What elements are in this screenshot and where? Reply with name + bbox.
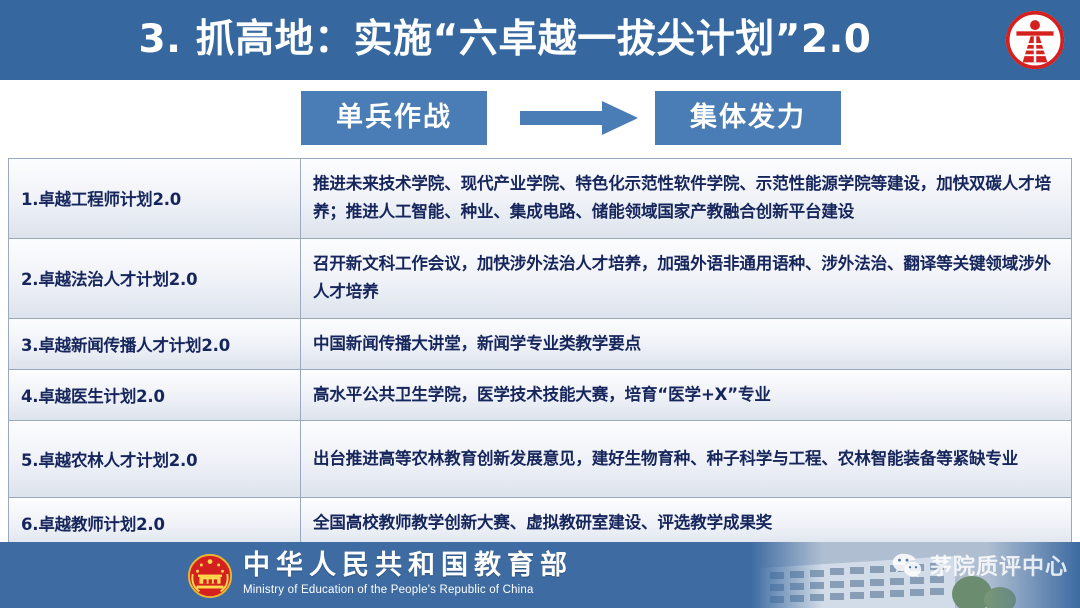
right-arrow-icon (520, 99, 640, 137)
ministry-name-cn: 中华人民共和国教育部 (243, 550, 573, 582)
flow-diagram: 单兵作战 集体发力 (0, 91, 1080, 147)
slide-footer: 中华人民共和国教育部 Ministry of Education of the … (0, 542, 1080, 608)
slide-canvas: 3. 抓高地：实施“六卓越一拔尖计划”2.0 单兵作战 集体发力 1.卓越工程 (0, 0, 1080, 608)
wechat-icon (892, 552, 922, 578)
plan-description: 推进未来技术学院、现代产业学院、特色化示范性软件学院、示范性能源学院等建设，加快… (301, 159, 1071, 238)
plan-name: 2.卓越法治人才计划2.0 (9, 239, 301, 318)
organization-emblem-icon (1004, 9, 1066, 71)
table-row: 2.卓越法治人才计划2.0 召开新文科工作会议，加快涉外法治人才培养，加强外语非… (9, 239, 1071, 319)
ministry-name-en: Ministry of Education of the People's Re… (243, 582, 573, 598)
plan-description: 召开新文科工作会议，加快涉外法治人才培养，加强外语非通用语种、涉外法治、翻译等关… (301, 239, 1071, 318)
national-emblem-icon (186, 552, 234, 600)
table-row: 1.卓越工程师计划2.0 推进未来技术学院、现代产业学院、特色化示范性软件学院、… (9, 159, 1071, 239)
wechat-watermark: 茅院质评中心 (892, 549, 1068, 581)
plan-description: 出台推进高等农林教育创新发展意见，建好生物育种、种子科学与工程、农林智能装备等紧… (301, 421, 1071, 497)
table-row: 4.卓越医生计划2.0 高水平公共卫生学院，医学技术技能大赛，培育“医学+X”专… (9, 370, 1071, 421)
ministry-branding: 中华人民共和国教育部 Ministry of Education of the … (243, 550, 573, 598)
slide-header-bar: 3. 抓高地：实施“六卓越一拔尖计划”2.0 (0, 0, 1080, 80)
table-row: 3.卓越新闻传播人才计划2.0 中国新闻传播大讲堂，新闻学专业类教学要点 (9, 319, 1071, 370)
flow-box-from: 单兵作战 (301, 91, 487, 145)
plan-name: 5.卓越农林人才计划2.0 (9, 421, 301, 497)
watermark-label: 茅院质评中心 (930, 549, 1068, 581)
plan-name: 4.卓越医生计划2.0 (9, 370, 301, 420)
table-row: 5.卓越农林人才计划2.0 出台推进高等农林教育创新发展意见，建好生物育种、种子… (9, 421, 1071, 498)
plan-name: 1.卓越工程师计划2.0 (9, 159, 301, 238)
page-title: 3. 抓高地：实施“六卓越一拔尖计划”2.0 (60, 0, 950, 80)
plan-description: 中国新闻传播大讲堂，新闻学专业类教学要点 (301, 319, 1071, 369)
plan-description: 高水平公共卫生学院，医学技术技能大赛，培育“医学+X”专业 (301, 370, 1071, 420)
plan-name: 3.卓越新闻传播人才计划2.0 (9, 319, 301, 369)
flow-box-to: 集体发力 (655, 91, 841, 145)
plans-table: 1.卓越工程师计划2.0 推进未来技术学院、现代产业学院、特色化示范性软件学院、… (8, 158, 1072, 550)
